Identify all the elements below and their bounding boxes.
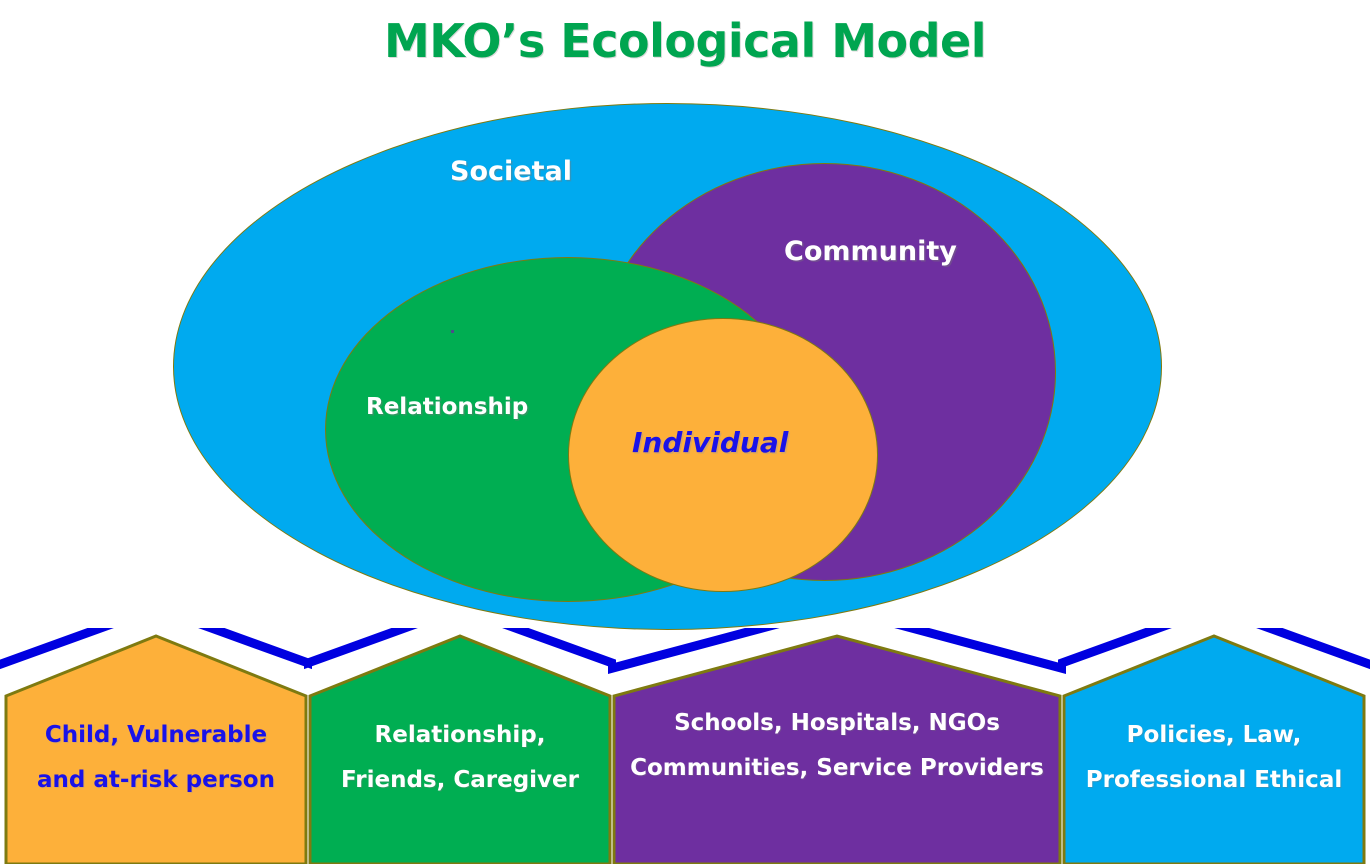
legend-box-societal[interactable]: Policies, Law, Professional Ethical [1058, 628, 1370, 864]
legend-box-individual[interactable]: Child, Vulnerable and at-risk person [0, 628, 312, 864]
pentagon-shape-community [608, 628, 1066, 864]
pentagon-shape-individual [0, 628, 312, 864]
label-community: Community [784, 236, 957, 267]
ecological-model-diagram: Societal Community Relationship Individu… [0, 0, 1370, 700]
legend-box-row: Child, Vulnerable and at-risk person Rel… [0, 628, 1370, 864]
label-societal: Societal [450, 156, 572, 187]
pentagon-shape-relationship [304, 628, 616, 864]
slide-canvas: MKO’s Ecological Model Societal Communit… [0, 0, 1370, 864]
label-relationship: Relationship [366, 394, 528, 420]
legend-box-community[interactable]: Schools, Hospitals, NGOs Communities, Se… [608, 628, 1066, 864]
stray-dot-mark [451, 330, 454, 333]
pentagon-shape-societal [1058, 628, 1370, 864]
legend-box-relationship[interactable]: Relationship, Friends, Caregiver [304, 628, 616, 864]
label-individual: Individual [632, 426, 788, 459]
